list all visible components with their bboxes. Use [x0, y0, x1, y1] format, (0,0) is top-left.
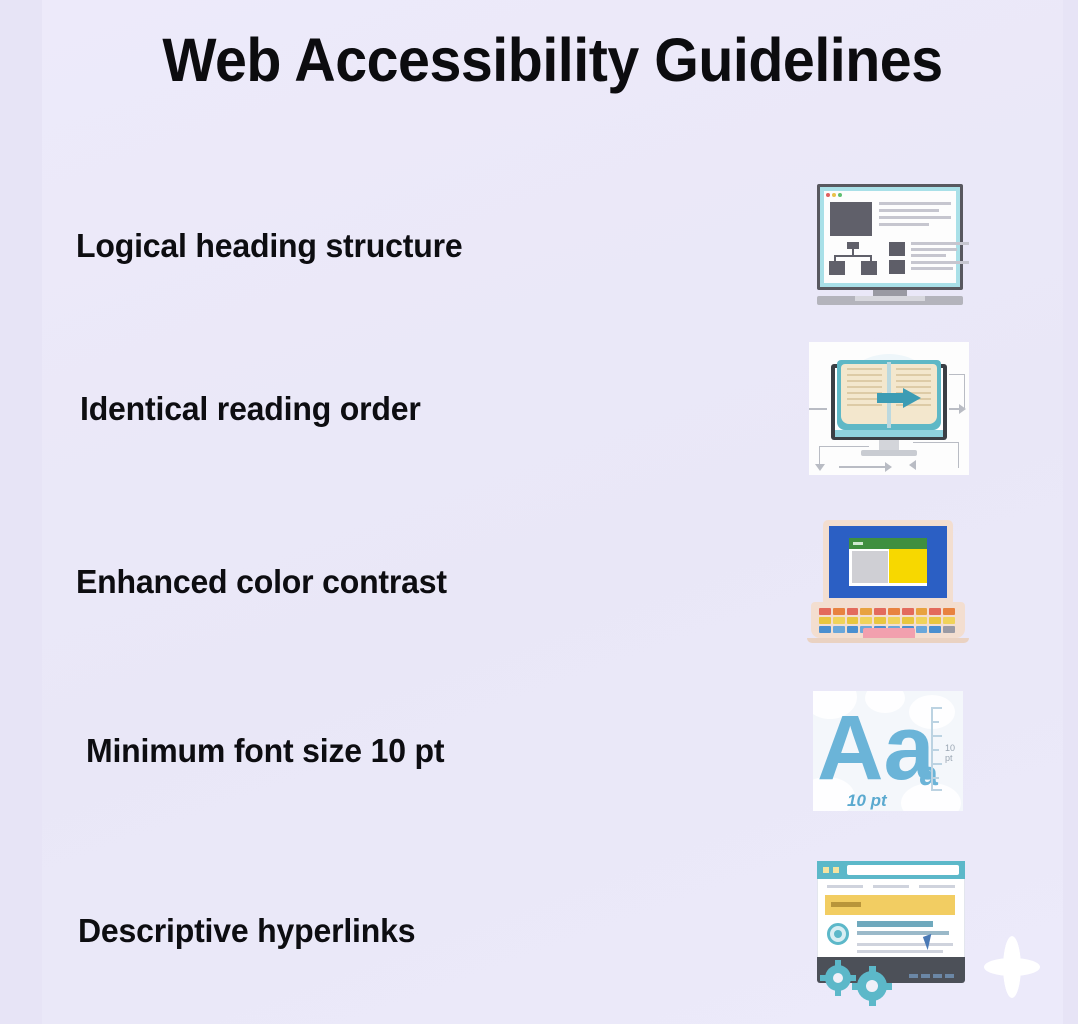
ruler-label: 10 pt: [945, 743, 963, 763]
hyperlink-text: [857, 921, 933, 927]
window-controls-icon: [823, 867, 839, 873]
monitor-open-book-reading-order-illustration: [809, 342, 969, 475]
font-size-aa-ruler-illustration: Aa a 10 pt 10 pt: [813, 691, 963, 811]
list-item: Descriptive hyperlinks: [42, 848, 1063, 1013]
colorful-laptop-contrast-illustration: [805, 520, 969, 644]
page-title: Web Accessibility Guidelines: [73, 28, 1033, 92]
gear-icon: [825, 965, 851, 991]
list-item: Identical reading order: [42, 326, 1063, 491]
open-book-icon: [837, 360, 941, 430]
list-item: Logical heading structure: [42, 163, 1063, 328]
letter-aa-glyph: Aa: [817, 705, 935, 792]
ruler-icon: [931, 707, 943, 791]
reading-order-arrow-icon: [877, 388, 921, 408]
link-badge-icon: [827, 923, 849, 945]
browser-hyperlink-gears-illustration: [813, 861, 969, 1001]
monitor-heading-structure-illustration: [811, 184, 969, 308]
font-size-caption: 10 pt: [847, 791, 887, 811]
item-label-descriptive-hyperlinks: Descriptive hyperlinks: [78, 912, 415, 950]
gear-icon: [857, 971, 887, 1001]
slide-canvas: Web Accessibility Guidelines Logical hea…: [0, 0, 1078, 1024]
item-label-enhanced-color-contrast: Enhanced color contrast: [76, 563, 447, 601]
sparkle-star: [984, 936, 1040, 998]
address-bar: [847, 865, 959, 875]
item-label-identical-reading-order: Identical reading order: [80, 390, 421, 428]
list-item: Enhanced color contrast: [42, 499, 1063, 664]
browser-dots-icon: [826, 193, 842, 197]
item-label-minimum-font-size: Minimum font size 10 pt: [86, 732, 444, 770]
heading-tree-icon: [829, 242, 877, 276]
item-label-logical-heading-structure: Logical heading structure: [76, 227, 462, 265]
list-item: Minimum font size 10 pt Aa a 10 pt 10 pt: [42, 668, 1063, 833]
